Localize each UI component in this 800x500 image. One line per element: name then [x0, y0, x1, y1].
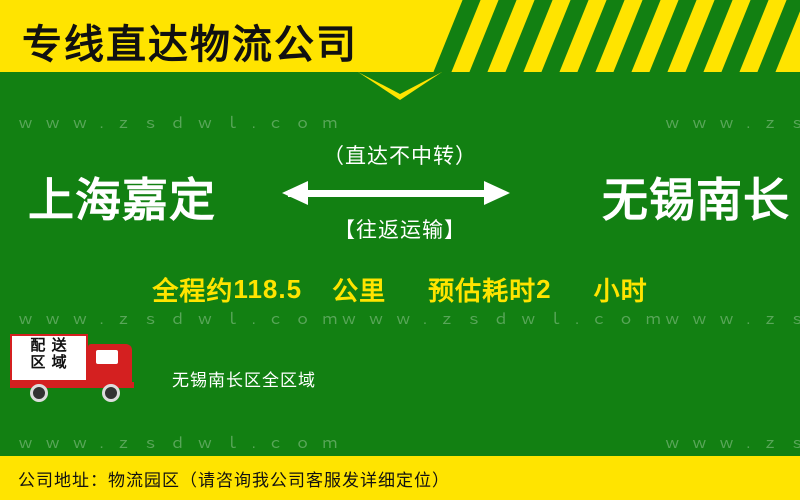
delivery-area-section: 配 送 区 域 无锡南长区全区域 [0, 330, 800, 410]
route-section: 上海嘉定 （直达不中转） 【往返运输】 无锡南长 [0, 150, 800, 270]
route-bottom-label: 【往返运输】 [280, 214, 520, 244]
page-title: 专线直达物流公司 [22, 12, 358, 70]
service-area-label: 无锡南长区全区域 [172, 366, 316, 391]
duration-prefix: 预估耗时 [428, 271, 536, 308]
header-stripe-decoration [430, 0, 800, 72]
address-value: 物流园区（请咨询我公司客服发详细定位） [108, 471, 450, 490]
truck-icon: 配 送 区 域 [10, 330, 160, 402]
distance-value: 118.5 [233, 274, 302, 305]
destination-city: 无锡南长 [602, 164, 790, 230]
truck-badge-text: 配 送 区 域 [10, 330, 88, 378]
distance-info: 全程约 118.5 公里 预估耗时 2 小时 [0, 268, 800, 310]
route-top-label: （直达不中转） [280, 140, 520, 170]
header-bar: 专线直达物流公司 [0, 0, 800, 72]
watermark-row-top: ｗ ｗ ｗ . ｚ ｓ ｄ ｗ ｌ . ｃ ｏ ｍ ｗ ｗ ｗ . ｚ ｓ ｄ … [0, 112, 800, 133]
company-address: 公司地址：物流园区（请咨询我公司客服发详细定位） [18, 466, 450, 491]
watermark-text: ｗ ｗ ｗ . ｚ ｓ ｄ ｗ ｌ . ｃ ｏ ｍ [665, 308, 800, 329]
duration-value: 2 [536, 274, 551, 305]
watermark-row-middle: ｗ ｗ ｗ . ｚ ｓ ｄ ｗ ｌ . ｃ ｏ ｍ ｗ ｗ ｗ . ｚ ｓ ｄ … [0, 308, 800, 329]
truck-badge-line1: 配 送 [30, 337, 67, 354]
duration-unit: 小时 [594, 271, 648, 308]
watermark-row-bottom: ｗ ｗ ｗ . ｚ ｓ ｄ ｗ ｌ . ｃ ｏ ｍ ｗ ｗ ｗ . ｚ ｓ ｄ … [0, 432, 800, 453]
truck-badge-line2: 区 域 [30, 354, 67, 371]
watermark-text: ｗ ｗ ｗ . ｚ ｓ ｄ ｗ ｌ . ｃ ｏ ｍ [665, 432, 800, 453]
watermark-text: ｗ ｗ ｗ . ｚ ｓ ｄ ｗ ｌ . ｃ ｏ ｍ [665, 112, 800, 133]
origin-city: 上海嘉定 [28, 164, 216, 230]
watermark-text: ｗ ｗ ｗ . ｚ ｓ ｄ ｗ ｌ . ｃ ｏ ｍ [18, 112, 341, 133]
chevron-divider-inner-icon [358, 72, 442, 94]
watermark-text: ｗ ｗ ｗ . ｚ ｓ ｄ ｗ ｌ . ｃ ｏ ｍ [341, 308, 664, 329]
watermark-text: ｗ ｗ ｗ . ｚ ｓ ｄ ｗ ｌ . ｃ ｏ ｍ [18, 432, 341, 453]
distance-prefix: 全程约 [152, 271, 233, 308]
address-label: 公司地址： [18, 471, 108, 490]
logistics-banner: 专线直达物流公司 ｗ ｗ ｗ . ｚ ｓ ｄ ｗ ｌ . ｃ ｏ ｍ ｗ ｗ ｗ… [0, 0, 800, 500]
distance-unit: 公里 [332, 271, 386, 308]
route-middle: （直达不中转） 【往返运输】 [280, 140, 520, 244]
footer-bar: 公司地址：物流园区（请咨询我公司客服发详细定位） [0, 456, 800, 500]
watermark-text: ｗ ｗ ｗ . ｚ ｓ ｄ ｗ ｌ . ｃ ｏ ｍ [18, 308, 341, 329]
route-arrow-icon [280, 176, 520, 210]
